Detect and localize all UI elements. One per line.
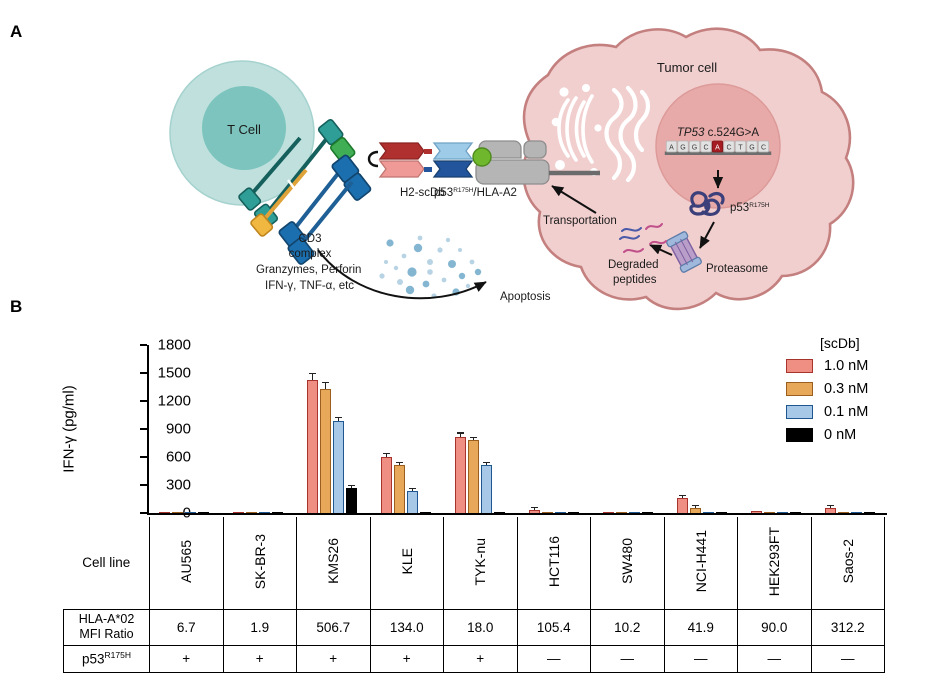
- panel-b-label: B: [10, 297, 22, 317]
- bar-rect: [346, 488, 357, 513]
- hla-mfi-value: 506.7: [297, 609, 371, 645]
- pmhc-label: p53R175H/HLA-A2: [434, 187, 517, 199]
- bar: [494, 345, 505, 513]
- cell-line-label: HCT116: [547, 536, 561, 587]
- table-row-hla-mfi: HLA-A*02 MFI Ratio 6.71.9506.7134.018.01…: [64, 609, 885, 645]
- y-axis-tick: [140, 512, 147, 514]
- bar: [420, 345, 431, 513]
- tumor-cell-label: Tumor cell: [657, 60, 717, 75]
- error-bar-cap: [348, 485, 354, 486]
- error-bar: [534, 508, 535, 510]
- transportation-label: Transportation: [543, 215, 617, 227]
- bar: [246, 345, 257, 513]
- cell-line-name: SW480: [591, 517, 665, 609]
- legend-rows: 1.0 nM0.3 nM0.1 nM0 nM: [786, 358, 936, 443]
- y-axis-tick: [140, 456, 147, 458]
- p53-protein-sup: R175H: [749, 202, 770, 209]
- bar: [542, 345, 553, 513]
- error-bar-cap: [457, 432, 463, 433]
- legend-item[interactable]: 0.1 nM: [786, 404, 936, 420]
- cytokine-dot: [406, 286, 414, 294]
- cell-line-label: Saos-2: [841, 539, 855, 583]
- error-bar: [682, 496, 683, 498]
- legend-swatch: [786, 359, 813, 373]
- dna-base-letter: G: [749, 145, 754, 152]
- p53-status-value: +: [370, 645, 444, 672]
- bar: [568, 345, 579, 513]
- bar: [407, 345, 418, 513]
- hla-mfi-value: 10.2: [591, 609, 665, 645]
- bar: [629, 345, 640, 513]
- panel-a-schematic: A Tumor cell: [0, 0, 945, 325]
- apoptosis-label: Apoptosis: [500, 291, 551, 303]
- cell-line-name: KLE: [370, 517, 444, 609]
- mutation-gene: TP53: [677, 127, 705, 139]
- mechanism-diagram: Tumor cell TP53 c.524G>A AGGCA: [0, 0, 945, 325]
- error-bar-cap: [396, 462, 402, 463]
- cell-line-label: KMS26: [326, 538, 340, 584]
- p53-header-sup: R175H: [105, 650, 131, 660]
- pmhc-label-base: p53: [434, 187, 453, 199]
- bar-group: [665, 345, 739, 513]
- bar: [642, 345, 653, 513]
- cell-line-name: HCT116: [517, 517, 591, 609]
- bar: [198, 345, 209, 513]
- cytokine-dot: [384, 260, 388, 264]
- dna-base-letter: T: [738, 145, 743, 152]
- cell-line-name: Saos-2: [811, 517, 885, 609]
- dna-base-letter: G: [680, 145, 685, 152]
- error-bar: [312, 374, 313, 379]
- legend-label: 0 nM: [824, 427, 856, 443]
- error-bar-cap: [470, 437, 476, 438]
- bar: [751, 345, 762, 513]
- p53-status-value: +: [150, 645, 224, 672]
- p53-status-value: —: [738, 645, 812, 672]
- bar: [185, 345, 196, 513]
- y-axis-tick: [140, 400, 147, 402]
- p53-status-value: —: [811, 645, 885, 672]
- error-bar: [338, 418, 339, 420]
- bar-group: [591, 345, 665, 513]
- proteasome-label: Proteasome: [706, 263, 768, 275]
- error-bar: [460, 434, 461, 438]
- cytokine-dot: [448, 260, 456, 268]
- mutation-label: TP53 c.524G>A: [677, 127, 759, 139]
- y-axis-title: IFN-γ (pg/ml): [61, 385, 78, 473]
- cell-line-label: KLE: [400, 548, 414, 574]
- bar-group: [517, 345, 591, 513]
- bar: [346, 345, 357, 513]
- bar: [381, 345, 392, 513]
- pmhc-label-tail: /HLA-A2: [473, 187, 516, 199]
- row-header-p53: p53R175H: [64, 645, 150, 672]
- dna-base-letter: A: [715, 145, 720, 152]
- bar-group: [369, 345, 443, 513]
- pmhc-label-sup: R175H: [453, 187, 474, 194]
- hla-header-line1: HLA-A*02: [79, 612, 135, 626]
- dna-base-letter: C: [761, 145, 766, 152]
- bar-group: [147, 345, 221, 513]
- legend-swatch: [786, 405, 813, 419]
- y-axis-tick: [140, 372, 147, 374]
- row-header-hla-mfi: HLA-A*02 MFI Ratio: [64, 609, 150, 645]
- cell-line-label: SW480: [620, 538, 634, 584]
- bar: [481, 345, 492, 513]
- error-bar: [473, 438, 474, 440]
- cytokine-dot: [386, 239, 393, 246]
- error-bar-cap: [531, 507, 537, 508]
- cell-line-label: SK-BR-3: [253, 534, 267, 589]
- cytokine-dot: [414, 244, 422, 252]
- cytokine-dot: [407, 267, 416, 276]
- bar: [468, 345, 479, 513]
- p53-status-value: —: [591, 645, 665, 672]
- cell-line-name: KMS26: [297, 517, 371, 609]
- cytokine-dot: [397, 279, 403, 285]
- cd3-label-line1: CD3: [298, 233, 321, 245]
- error-bar-cap: [309, 373, 315, 374]
- error-bar-cap: [335, 417, 341, 418]
- cytokine-dot: [442, 278, 447, 283]
- mutation-change: c.524G>A: [708, 127, 760, 139]
- p53-status-value: +: [223, 645, 297, 672]
- cytokines-label-line2: IFN-γ, TNF-α, etc: [265, 280, 354, 292]
- hla-mfi-value: 105.4: [517, 609, 591, 645]
- p53-status-value: —: [517, 645, 591, 672]
- error-bar: [351, 486, 352, 488]
- bar: [616, 345, 627, 513]
- cell-line-name: TYK-nu: [444, 517, 518, 609]
- bar-rect: [307, 380, 318, 513]
- hla-mfi-value: 134.0: [370, 609, 444, 645]
- error-bar-cap: [322, 382, 328, 383]
- chart-legend: [scDb] 1.0 nM0.3 nM0.1 nM0 nM: [786, 335, 936, 450]
- bar: [555, 345, 566, 513]
- error-bar-cap: [383, 453, 389, 454]
- legend-item[interactable]: 1.0 nM: [786, 358, 936, 374]
- cytokine-dot: [446, 238, 450, 242]
- bar: [690, 345, 701, 513]
- bar-group: [295, 345, 369, 513]
- bar: [333, 345, 344, 513]
- cytokine-dot: [466, 284, 470, 288]
- cytokine-dot: [437, 247, 442, 252]
- table-row-p53-status: p53R175H +++++—————: [64, 645, 885, 672]
- legend-title: [scDb]: [786, 335, 936, 351]
- y-axis-tick: [140, 484, 147, 486]
- error-bar: [325, 383, 326, 389]
- legend-item[interactable]: 0.3 nM: [786, 381, 936, 397]
- error-bar: [386, 454, 387, 457]
- degraded-peptides-label-1: Degraded: [608, 259, 659, 271]
- dna-base-letter: G: [692, 145, 697, 152]
- legend-item[interactable]: 0 nM: [786, 427, 936, 443]
- cytokines-label-line1: Granzymes, Perforin: [256, 264, 361, 276]
- dna-sequence-strip: AGGCACTGC: [665, 141, 772, 155]
- cell-line-name: SK-BR-3: [223, 517, 297, 609]
- bar: [172, 345, 183, 513]
- bar: [307, 345, 318, 513]
- p53-protein-base: p53: [730, 202, 749, 214]
- p53-status-value: +: [297, 645, 371, 672]
- bar: [159, 345, 170, 513]
- bar-rect: [407, 491, 418, 513]
- hla-mfi-value: 6.7: [150, 609, 224, 645]
- hla-mfi-value: 18.0: [444, 609, 518, 645]
- cell-line-label: NCI-H441: [694, 530, 708, 592]
- dna-base-letter: A: [669, 145, 674, 152]
- bar-rect: [677, 498, 688, 513]
- bar: [394, 345, 405, 513]
- bar: [716, 345, 727, 513]
- degraded-peptides-label-2: peptides: [613, 274, 657, 286]
- cytokine-dot: [402, 254, 407, 259]
- error-bar: [399, 463, 400, 465]
- error-bar-cap: [409, 488, 415, 489]
- cell-line-name: HEK293FT: [738, 517, 812, 609]
- y-axis-tick: [140, 344, 147, 346]
- hla-mfi-value: 41.9: [664, 609, 738, 645]
- bar: [677, 345, 688, 513]
- bar-rect: [333, 421, 344, 513]
- cell-line-label: AU565: [179, 540, 193, 583]
- p53-status-value: —: [664, 645, 738, 672]
- bar: [272, 345, 283, 513]
- bar-rect: [394, 465, 405, 513]
- error-bar-cap: [679, 495, 685, 496]
- hla-header-line2: MFI Ratio: [79, 627, 133, 641]
- cell-line-label: HEK293FT: [767, 527, 781, 596]
- error-bar: [830, 506, 831, 508]
- cytokine-dot: [475, 269, 481, 275]
- p53-status-value: +: [444, 645, 518, 672]
- bar-rect: [320, 389, 331, 513]
- t-cell-label: T Cell: [227, 122, 261, 137]
- bar: [455, 345, 466, 513]
- error-bar-cap: [827, 505, 833, 506]
- cytokine-dot: [427, 269, 433, 275]
- bar-rect: [481, 465, 492, 513]
- legend-swatch: [786, 382, 813, 396]
- bar: [703, 345, 714, 513]
- table-row-cell-line: Cell line AU565SK-BR-3KMS26KLETYK-nuHCT1…: [64, 517, 885, 609]
- plot-area: [147, 345, 887, 513]
- cell-line-data-table: Cell line AU565SK-BR-3KMS26KLETYK-nuHCT1…: [63, 517, 885, 673]
- legend-label: 0.1 nM: [824, 404, 868, 420]
- cytokine-dot: [379, 273, 384, 278]
- hla-mfi-value: 312.2: [811, 609, 885, 645]
- p53-header-base: p53: [82, 652, 105, 667]
- bar: [259, 345, 270, 513]
- row-header-cell-line: Cell line: [64, 517, 150, 609]
- legend-label: 1.0 nM: [824, 358, 868, 374]
- cytokine-dot: [458, 248, 462, 252]
- cytokine-dot: [394, 266, 398, 270]
- panel-b-chart: B IFN-γ (pg/ml) 0300600900120015001800 […: [0, 325, 945, 689]
- error-bar-cap: [483, 462, 489, 463]
- bar-rect: [468, 440, 479, 513]
- h2-scdb-molecule: [369, 143, 472, 177]
- error-bar: [412, 489, 413, 491]
- hla-mfi-value: 90.0: [738, 609, 812, 645]
- bar: [603, 345, 614, 513]
- cytokine-dot: [423, 281, 430, 288]
- cytokine-particles: [379, 236, 481, 299]
- cytokine-dot: [418, 236, 423, 241]
- y-axis-tick: [140, 428, 147, 430]
- error-bar-cap: [692, 505, 698, 506]
- hla-mfi-value: 1.9: [223, 609, 297, 645]
- ifng-bar-chart: IFN-γ (pg/ml) 0300600900120015001800: [147, 345, 887, 513]
- cell-line-name: AU565: [150, 517, 224, 609]
- bar: [233, 345, 244, 513]
- cytokine-dot: [427, 259, 433, 265]
- cell-line-name: NCI-H441: [664, 517, 738, 609]
- legend-swatch: [786, 428, 813, 442]
- dna-base-letter: C: [703, 145, 708, 152]
- error-bar: [695, 506, 696, 508]
- bar: [529, 345, 540, 513]
- bar-group: [443, 345, 517, 513]
- bar: [764, 345, 775, 513]
- bar: [320, 345, 331, 513]
- cytokine-dot: [459, 273, 465, 279]
- x-axis-line: [147, 513, 887, 515]
- bar-group: [221, 345, 295, 513]
- cytokine-dot: [470, 260, 475, 265]
- error-bar: [486, 463, 487, 465]
- legend-label: 0.3 nM: [824, 381, 868, 397]
- bar-rect: [381, 457, 392, 513]
- bar-rect: [455, 437, 466, 513]
- cell-line-label: TYK-nu: [473, 538, 487, 585]
- dna-base-letter: C: [726, 145, 731, 152]
